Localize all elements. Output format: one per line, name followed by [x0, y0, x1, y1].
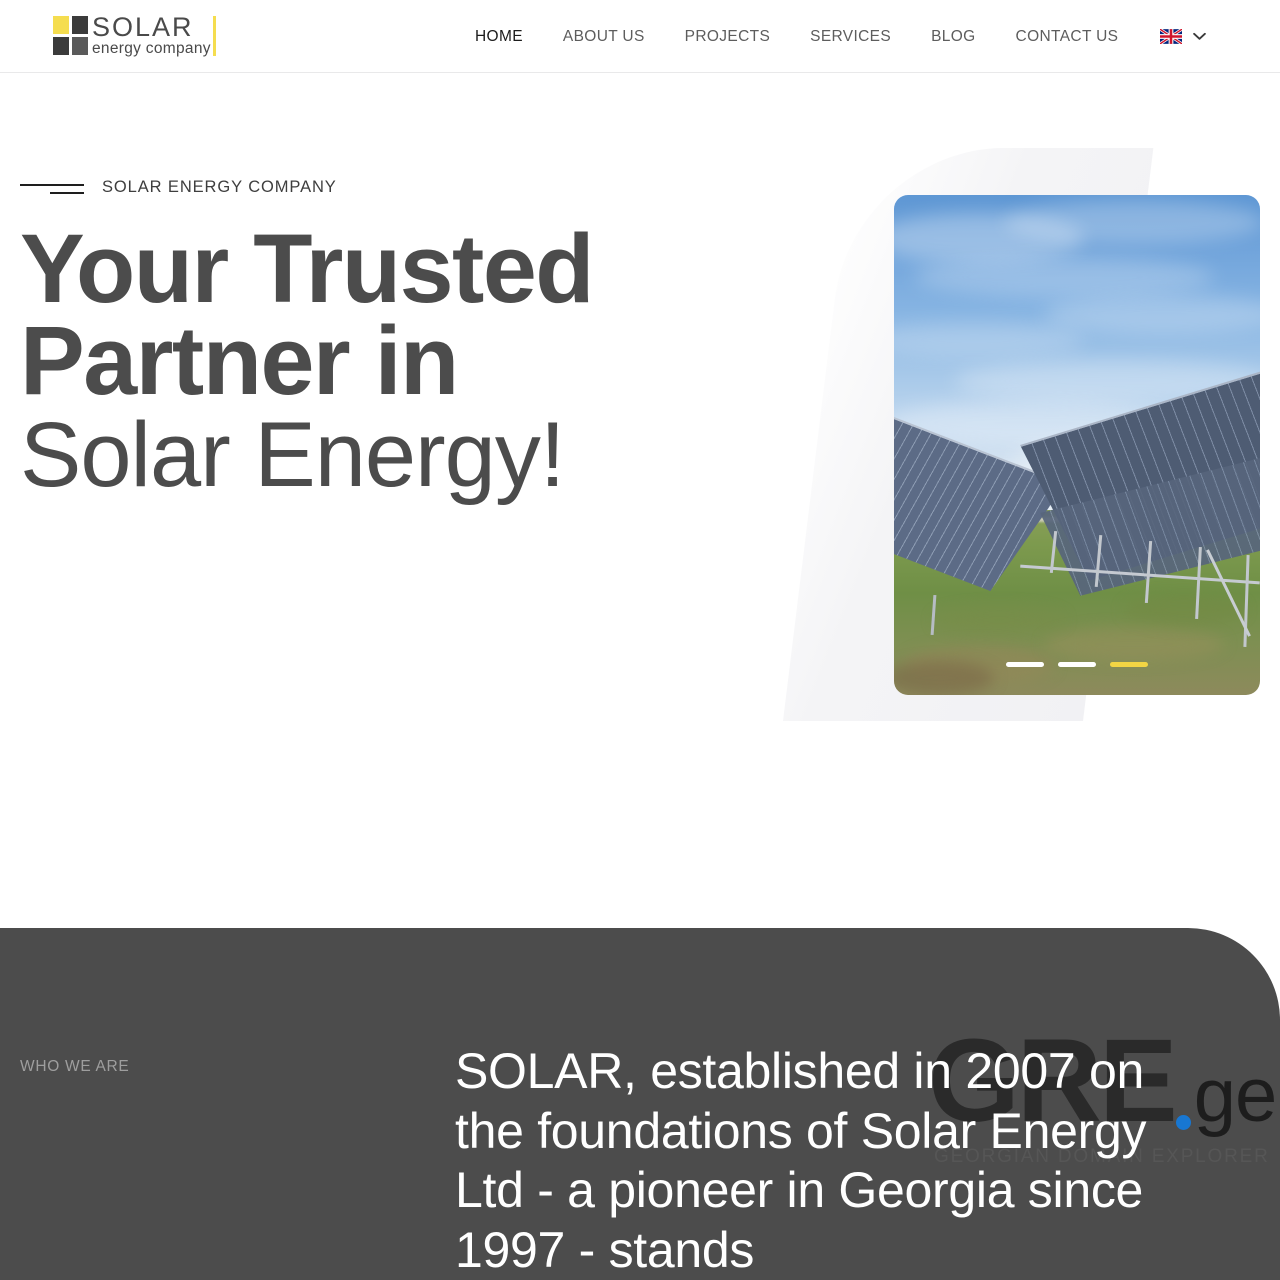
- uk-flag-icon: [1160, 29, 1182, 44]
- eyebrow-line-bottom: [50, 192, 84, 194]
- language-selector[interactable]: [1138, 29, 1206, 44]
- site-logo[interactable]: SOLAR energy company: [53, 16, 216, 58]
- nav-item-projects[interactable]: PROJECTS: [665, 28, 790, 46]
- logo-accent-bar: [213, 16, 216, 56]
- cloud: [914, 257, 1214, 297]
- nav-item-home[interactable]: HOME: [455, 28, 543, 46]
- logo-square-dark-2: [53, 37, 69, 55]
- logo-squares-icon: [53, 16, 89, 56]
- hero-eyebrow: SOLAR ENERGY COMPANY: [20, 178, 720, 197]
- hero-slide-image: [894, 195, 1260, 695]
- hero-eyebrow-text: SOLAR ENERGY COMPANY: [102, 178, 337, 197]
- nav-item-contact-us[interactable]: CONTACT US: [996, 28, 1139, 46]
- nav-item-blog[interactable]: BLOG: [911, 28, 995, 46]
- cloud: [1044, 295, 1260, 333]
- hero-slider[interactable]: [894, 195, 1260, 695]
- cloud: [1004, 200, 1260, 244]
- grass-patch: [934, 607, 1064, 633]
- hero-section: SOLAR ENERGY COMPANY Your Trusted Partne…: [0, 73, 1280, 928]
- grass-patch: [1124, 595, 1244, 625]
- nav-item-about-us[interactable]: ABOUT US: [543, 28, 665, 46]
- slider-dot-2[interactable]: [1058, 662, 1096, 667]
- hero-headline-light: Solar Energy!: [20, 412, 720, 499]
- eyebrow-lines-icon: [20, 181, 84, 195]
- about-paragraph: SOLAR, established in 2007 on the founda…: [455, 1042, 1215, 1280]
- hero-text-block: SOLAR ENERGY COMPANY Your Trusted Partne…: [20, 178, 720, 500]
- logo-square-dark-1: [72, 16, 88, 34]
- site-header: SOLAR energy company HOME ABOUT US PROJE…: [0, 0, 1280, 73]
- about-section-label: WHO WE ARE: [20, 1058, 129, 1076]
- logo-title: SOLAR: [92, 16, 211, 38]
- logo-subtitle: energy company: [92, 40, 211, 58]
- slider-dot-3[interactable]: [1110, 662, 1148, 667]
- logo-square-yellow: [53, 16, 69, 34]
- logo-wordmark: SOLAR energy company: [92, 16, 211, 58]
- hero-headline: Your Trusted Partner in Solar Energy!: [20, 223, 720, 500]
- hero-headline-bold: Your Trusted Partner in: [20, 223, 720, 407]
- logo-square-gray: [72, 37, 88, 55]
- slider-indicators: [894, 662, 1260, 667]
- eyebrow-line-top: [20, 184, 84, 186]
- cloud: [894, 323, 1084, 357]
- nav-item-services[interactable]: SERVICES: [790, 28, 911, 46]
- chevron-down-icon: [1193, 32, 1206, 41]
- grass-patch: [1044, 627, 1224, 661]
- main-navigation: HOME ABOUT US PROJECTS SERVICES BLOG CON…: [455, 0, 1206, 73]
- slider-dot-1[interactable]: [1006, 662, 1044, 667]
